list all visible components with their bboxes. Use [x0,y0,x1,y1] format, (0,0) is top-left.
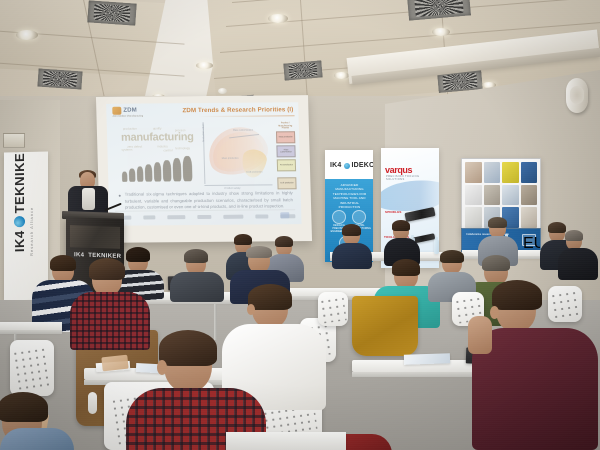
slide-bullet: Traditional six-sigma techniques adapted… [119,190,294,211]
chart-annotation: Craft production [246,171,262,173]
zdm-logo: ZDM [112,107,137,115]
tekniker-logo: IK4 TEKNIKER [12,152,27,253]
chart-y-axis-label: Production volume [202,122,206,142]
wordcloud-word: control [163,148,172,152]
attendee-hand [468,316,492,354]
evolution-figure [137,167,143,182]
evolution-figure [173,158,182,181]
attendee-torso [0,428,74,450]
evolution-figure [163,160,172,181]
recessed-downlight-icon [432,28,450,36]
handout-papers [404,353,450,365]
partner-logo [223,214,243,218]
wordcloud-word: quality [153,126,162,130]
podium-brand-prefix: IK4 [74,252,84,258]
eu-badge-icon: EU [522,234,536,246]
tekniker-ring-icon [14,216,25,227]
attendee-torso [332,243,372,269]
wordcloud-word: technology [175,146,190,150]
chart-legend-item: Mass production [276,131,295,143]
tekniker-logo-name: TEKNIKER [12,152,27,214]
attendee-hair [126,247,150,262]
ideko-headline: ADVANCED MANUFACTURING TECHNOLOGIES FOR … [330,183,369,210]
attendee-hair [440,250,464,263]
smoke-detector-icon [218,88,227,94]
partner-logo [197,214,211,218]
slide-footer [115,209,295,223]
recessed-downlight-icon [16,30,38,40]
attendee-hair [275,236,293,247]
attendee-hair [488,217,507,228]
presentation-slide: ZDM Zero Defect Manufacturing ZDM Trends… [106,102,301,226]
chair-perforation [11,345,53,390]
poster-image [502,162,519,183]
attendee-torso [70,292,150,350]
draped-coat [352,296,418,356]
poster-image [502,185,519,206]
poster-image [484,162,501,183]
attendee-hair [482,255,510,271]
ideko-icon-row [329,210,369,224]
ideko-logo-prefix: IK4 [330,162,342,169]
bullet-dot-icon [119,194,121,196]
attendee-hair [0,392,48,422]
chair-arm [88,392,97,414]
air-diffuser-icon [87,0,136,25]
attendee-ear [157,360,167,375]
attendee-hair [234,234,252,245]
ideko-ring-icon [344,163,350,169]
poster-image [465,207,482,228]
podium-graphic [70,225,120,249]
ideko-logo-name: IDEKO [352,162,374,169]
evolution-figure [129,169,135,182]
attendee-hair [565,230,583,241]
partner-logo [167,215,185,219]
chart-x-axis-label: Product variety [225,187,241,190]
desk-edge [0,330,62,334]
seminar-desk [226,432,346,450]
recessed-downlight-icon [196,62,213,69]
attendee-hair [184,249,208,263]
conference-chair [318,292,348,326]
wordcloud-word: production [123,127,137,131]
evolution-figure [183,156,193,181]
chart-legend-item: Personalisation [277,159,296,171]
attendee-ear [490,306,499,319]
chart-legend-item: Craft production [277,177,296,189]
attendee-hair [548,222,566,233]
slide-title: ZDM Trends & Research Priorities (I) [182,106,293,114]
gear-icon [332,210,346,224]
evolution-graphic [122,155,199,182]
ideko-logo: IK4 IDEKO [330,162,373,169]
attendee-hair [392,259,420,276]
recessed-downlight-icon [334,72,349,79]
evolution-figure [122,172,127,182]
attendee-torso [170,272,224,302]
attendee-hair [492,280,542,310]
air-diffuser-icon [283,60,322,80]
poster-image [484,185,501,206]
attendee-hair [392,220,410,231]
attendee-hair [50,255,76,271]
evolution-figure [145,164,152,181]
production-volume-chart: Production volume Product variety Mass c… [203,123,275,186]
paper-bag [101,355,128,372]
varqus-product-label: SPINDLES [385,210,402,214]
chair-perforation [319,295,347,323]
partner-logo [143,215,155,219]
conference-chair [10,340,54,396]
banner-tekniker: IK4 TEKNIKER Research Alliance [4,152,48,301]
conference-room-photo: ZDM Zero Defect Manufacturing ZDM Trends… [0,0,600,450]
poster-image [521,185,538,206]
varqus-logo-text: varqus [385,165,412,175]
attendee-hair [246,246,272,258]
slide-bullet-text: Traditional six-sigma techniques adapted… [125,190,294,211]
seminar-desk [0,322,62,330]
conference-chair [548,286,582,322]
attendee-torso [558,248,598,280]
poster-image [465,185,482,206]
ceiling-speaker-icon [566,78,588,113]
desk-leg [214,304,217,340]
wordcloud-word: systems [121,148,132,152]
varqus-tagline: PRECISION TOOLING SOLUTIONS [386,175,439,181]
zdm-logo-text: ZDM [123,108,137,114]
chair-perforation [549,289,581,319]
wordcloud-graphic: manufacturing production quality process… [119,125,198,152]
chart-legend-item: Mass customisation [276,145,295,157]
slide-title-rule [199,115,295,117]
poster-image [521,207,538,228]
zdm-mark-icon [112,107,121,115]
evolution-figure [154,162,162,181]
eu-flag-icon [280,212,289,218]
wall-sign [3,133,25,148]
partner-logo [255,214,268,218]
attendee-hair [159,330,217,366]
presenter-shirt [82,188,95,210]
chart-annotation: Mass customisation [233,130,253,132]
attendee-hair [89,258,125,280]
projection-screen: ZDM Zero Defect Manufacturing ZDM Trends… [96,95,312,243]
tekniker-logo-prefix: IK4 [12,230,27,252]
chart-annotation: Mass production [222,158,239,160]
chart-legend-title: Product / Manufacturing Phases [276,122,295,130]
wordcloud-word: process [175,128,186,132]
attendee-ear [247,304,255,315]
chip-icon [352,210,366,224]
attendee-hair [342,224,361,236]
wordcloud-main-word: manufacturing [121,131,194,144]
poster-image [521,162,538,183]
recessed-downlight-icon [268,14,288,23]
air-diffuser-icon [37,68,82,89]
slide-header: ZDM Zero Defect Manufacturing ZDM Trends… [106,102,299,121]
tekniker-tagline: Research Alliance [29,207,34,256]
poster-image [465,162,482,183]
zdm-logo-subtitle: Zero Defect Manufacturing [112,115,143,118]
water-bottle [434,240,439,254]
chart-legend: Product / Manufacturing Phases Mass prod… [276,122,297,191]
